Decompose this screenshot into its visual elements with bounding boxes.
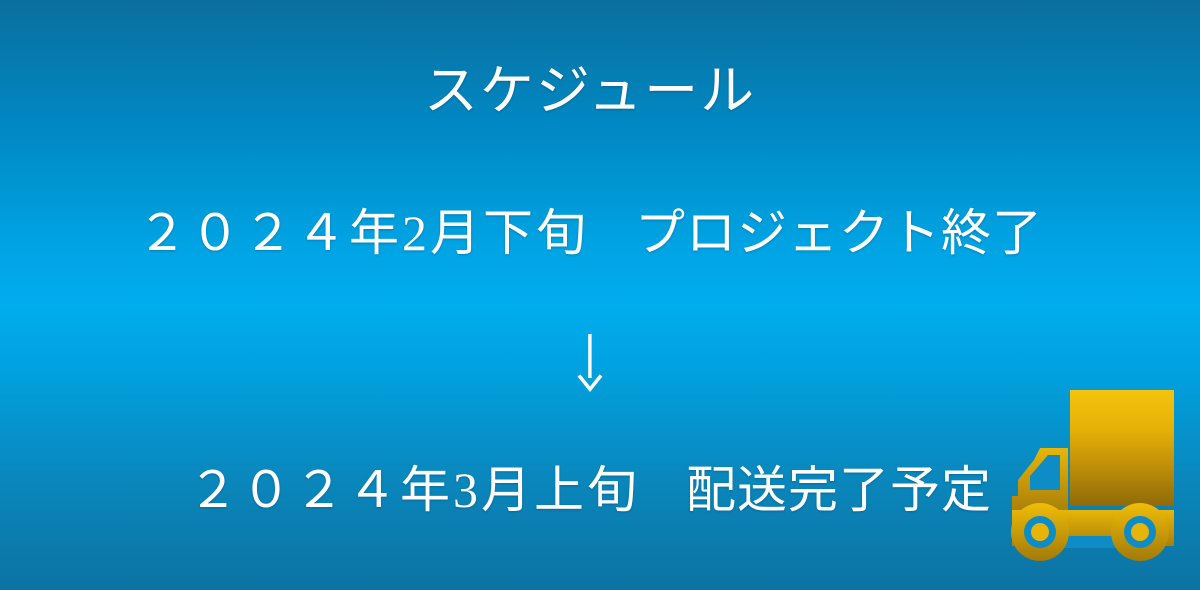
- schedule-date-2: ２０２４年3月上旬: [188, 462, 640, 518]
- truck-cargo-box: [1070, 390, 1174, 506]
- schedule-description-2: 配送完了予定: [686, 462, 992, 518]
- down-arrow: [0, 334, 1180, 394]
- truck-wheel-rear: [1111, 503, 1169, 561]
- slide-canvas: スケジュール ２０２４年2月下旬プロジェクト終了 ２０２４年3月上旬配送完了予定: [0, 0, 1200, 590]
- delivery-truck-icon: [996, 386, 1178, 566]
- schedule-date-1: ２０２４年2月下旬: [137, 205, 589, 261]
- truck-wheel-front: [1011, 503, 1069, 561]
- page-title: スケジュール: [0, 62, 1180, 121]
- schedule-line-1: ２０２４年2月下旬プロジェクト終了: [0, 205, 1180, 263]
- schedule-description-1: プロジェクト終了: [635, 205, 1043, 261]
- arrow-down-icon: [570, 334, 610, 394]
